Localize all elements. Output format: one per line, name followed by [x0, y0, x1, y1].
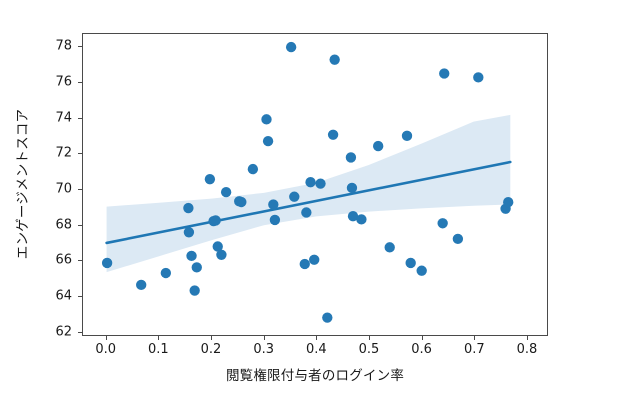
- x-tick-label: 0.6: [411, 342, 432, 357]
- x-tick-label: 0.4: [306, 342, 327, 357]
- scatter-point: [136, 280, 146, 290]
- x-tick-label: 0.1: [148, 342, 169, 357]
- scatter-point: [263, 136, 273, 146]
- scatter-point: [184, 227, 194, 237]
- scatter-point: [328, 130, 338, 140]
- x-tick-mark: [527, 336, 528, 340]
- scatter-point: [453, 234, 463, 244]
- x-tick-mark: [264, 336, 265, 340]
- x-tick-mark: [474, 336, 475, 340]
- scatter-point: [186, 251, 196, 261]
- scatter-point: [236, 197, 246, 207]
- x-axis-label: 閲覧権限付与者のログイン率: [226, 364, 404, 384]
- scatter-point: [439, 68, 449, 78]
- scatter-plot-figure: エンゲージメントスコア 626466687072747678 0.00.10.2…: [0, 0, 634, 405]
- scatter-point: [322, 312, 332, 322]
- scatter-point: [346, 152, 356, 162]
- scatter-point: [301, 207, 311, 217]
- scatter-point: [402, 131, 412, 141]
- y-tick-label: 62: [55, 324, 72, 339]
- scatter-point: [347, 183, 357, 193]
- x-tick-mark: [211, 336, 212, 340]
- x-tick-label: 0.3: [253, 342, 274, 357]
- scatter-point: [473, 72, 483, 82]
- y-tick-label: 64: [55, 288, 72, 303]
- x-tick-mark: [369, 336, 370, 340]
- x-tick-label: 0.7: [464, 342, 485, 357]
- scatter-point: [503, 197, 513, 207]
- y-tick-label: 68: [55, 217, 72, 232]
- y-tick-label: 72: [55, 146, 72, 161]
- plot-area: [82, 33, 548, 336]
- scatter-point: [315, 178, 325, 188]
- scatter-point: [221, 187, 231, 197]
- scatter-point: [261, 114, 271, 124]
- scatter-point: [373, 141, 383, 151]
- scatter-point: [102, 258, 112, 268]
- scatter-point: [309, 255, 319, 265]
- scatter-point: [385, 242, 395, 252]
- x-tick-label: 0.2: [201, 342, 222, 357]
- x-tick-mark: [106, 336, 107, 340]
- scatter-point: [289, 192, 299, 202]
- scatter-point: [305, 177, 315, 187]
- y-tick-label: 70: [55, 181, 72, 196]
- scatter-point: [190, 285, 200, 295]
- x-tick-mark: [158, 336, 159, 340]
- scatter-point: [300, 259, 310, 269]
- x-tick-label: 0.0: [95, 342, 116, 357]
- scatter-point: [286, 42, 296, 52]
- scatter-point: [192, 262, 202, 272]
- scatter-point: [183, 203, 193, 213]
- scatter-point: [268, 199, 278, 209]
- scatter-point: [270, 215, 280, 225]
- scatter-point: [417, 266, 427, 276]
- scatter-point: [329, 55, 339, 65]
- scatter-point: [437, 218, 447, 228]
- scatter-point: [210, 215, 220, 225]
- x-tick-mark: [422, 336, 423, 340]
- x-tick-mark: [316, 336, 317, 340]
- scatter-point: [205, 174, 215, 184]
- y-tick-label: 78: [55, 39, 72, 54]
- y-tick-label: 74: [55, 110, 72, 125]
- plot-canvas: [83, 34, 547, 335]
- y-tick-label: 66: [55, 253, 72, 268]
- x-tick-label: 0.5: [359, 342, 380, 357]
- scatter-point: [248, 164, 258, 174]
- y-tick-label: 76: [55, 75, 72, 90]
- scatter-point: [406, 258, 416, 268]
- scatter-point: [216, 250, 226, 260]
- scatter-point: [356, 214, 366, 224]
- x-tick-label: 0.8: [517, 342, 538, 357]
- scatter-point: [161, 268, 171, 278]
- confidence-band: [107, 115, 511, 272]
- y-axis-label: エンゲージメントスコア: [11, 109, 31, 259]
